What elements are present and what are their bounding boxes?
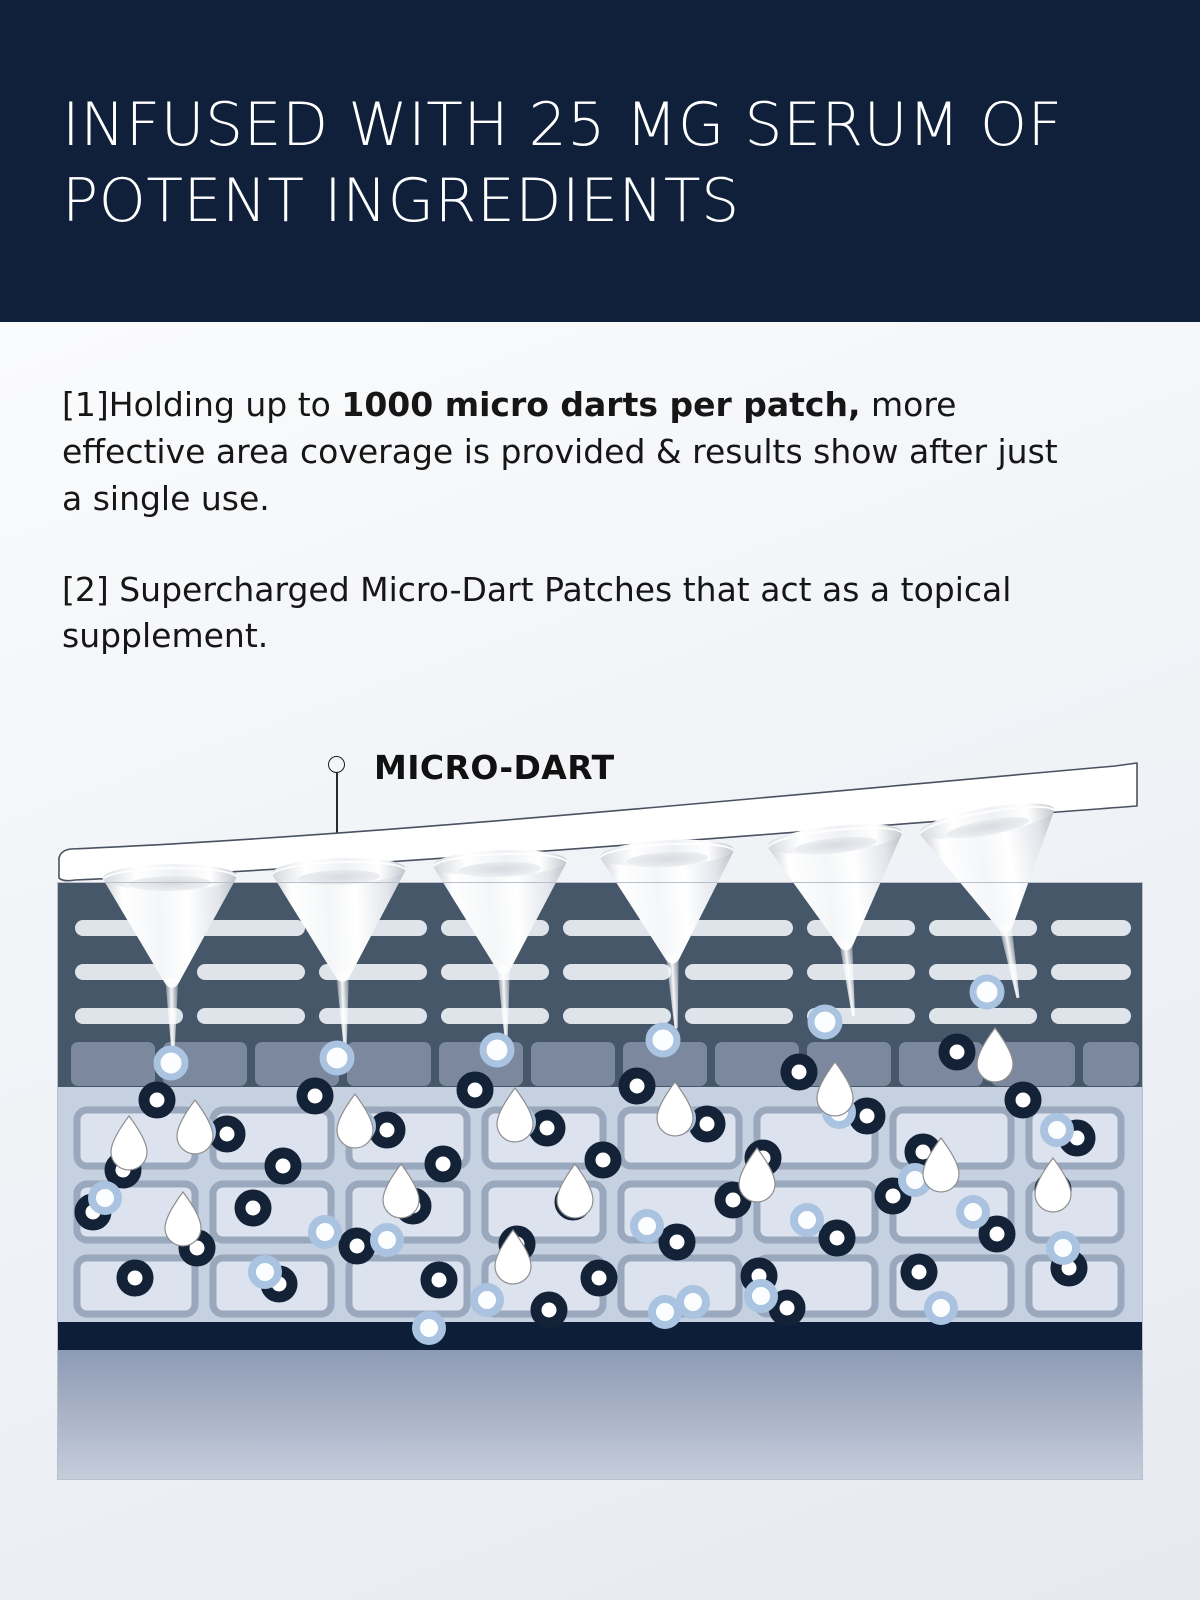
page-title: INFUSED WITH 25 MG SERUM OF POTENT INGRE… [62,88,1142,239]
stratum-corneum-dashes [75,920,1131,1024]
layer-hypodermis [57,1350,1143,1480]
paragraph-1-marker: [1] [62,385,109,424]
dart-tip-marker [811,1008,839,1036]
dart-tip-marker [649,1026,677,1054]
skin-cross-section-diagram [57,760,1143,1480]
body-copy: [1]Holding up to 1000 micro darts per pa… [62,382,1072,660]
dart-tip-marker [483,1036,511,1064]
dart-tip-marker [157,1049,185,1077]
paragraph-1-lead: Holding up to [109,385,342,424]
dart-tip-marker [973,978,1001,1006]
paragraph-1: [1]Holding up to 1000 micro darts per pa… [62,382,1072,523]
dart-tip-marker [323,1044,351,1072]
paragraph-2: [2] Supercharged Micro-Dart Patches that… [62,567,1072,661]
paragraph-1-emphasis: 1000 micro darts per patch, [341,385,860,424]
layer-dark-band [57,1322,1143,1350]
